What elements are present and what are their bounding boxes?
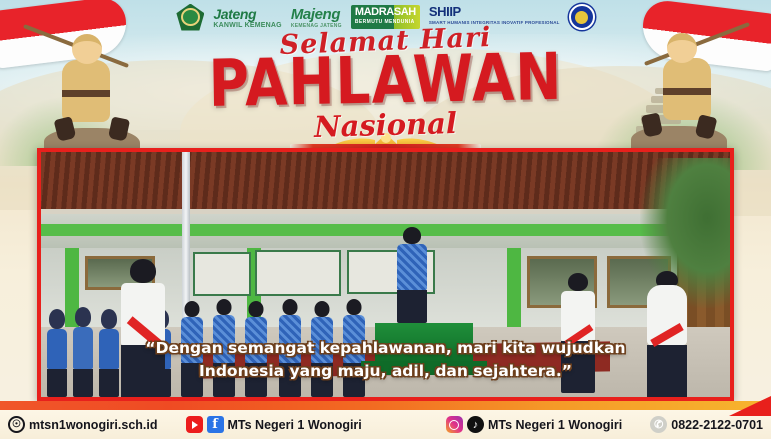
poster-canvas: Jateng KANWIL KEMENAG Majeng KEMENAG JAT… <box>0 0 771 439</box>
whatsapp-icon: ✆ <box>650 416 667 433</box>
website-label: mtsn1wonogiri.sch.id <box>29 418 158 432</box>
youtube-icon[interactable] <box>186 416 203 433</box>
gradient-divider <box>0 401 771 410</box>
headline-block: Selamat Hari PAHLAWAN Nasional 10 NOVEMB… <box>0 26 771 164</box>
quote-line-2: Indonesia yang maju, adil, dan sejahtera… <box>87 360 684 383</box>
social-group-2[interactable]: ♪ MTs Negeri 1 Wonogiri <box>446 416 622 433</box>
quote-line-1: “Dengan semangat kepahlawanan, mari kita… <box>87 337 684 360</box>
quote-text: “Dengan semangat kepahlawanan, mari kita… <box>41 337 730 383</box>
website-group[interactable]: ☉ mtsn1wonogiri.sch.id <box>8 416 158 433</box>
globe-icon: ☉ <box>8 416 25 433</box>
whatsapp-label: 0822-2122-0701 <box>671 418 763 432</box>
green-beam <box>41 224 730 236</box>
school-roof <box>41 152 730 214</box>
notice-board <box>193 252 251 296</box>
jateng-logo-label: Jateng <box>213 6 256 22</box>
instagram-icon[interactable] <box>446 416 463 433</box>
facebook-icon[interactable]: f <box>207 416 224 433</box>
flag-pole <box>182 152 190 320</box>
facebook-label: MTs Negeri 1 Wonogiri <box>228 418 362 432</box>
social-group-1[interactable]: f MTs Negeri 1 Wonogiri <box>186 416 362 433</box>
whatsapp-group[interactable]: ✆ 0822-2122-0701 <box>650 416 763 433</box>
tiktok-label: MTs Negeri 1 Wonogiri <box>488 418 622 432</box>
notice-board <box>255 250 341 296</box>
tiktok-icon[interactable]: ♪ <box>467 416 484 433</box>
footer-bar: ☉ mtsn1wonogiri.sch.id f MTs Negeri 1 Wo… <box>0 410 771 439</box>
majeng-logo-label: Majeng <box>291 6 340 23</box>
person-speaker <box>397 227 427 323</box>
ceremony-photo: “Dengan semangat kepahlawanan, mari kita… <box>37 148 734 401</box>
